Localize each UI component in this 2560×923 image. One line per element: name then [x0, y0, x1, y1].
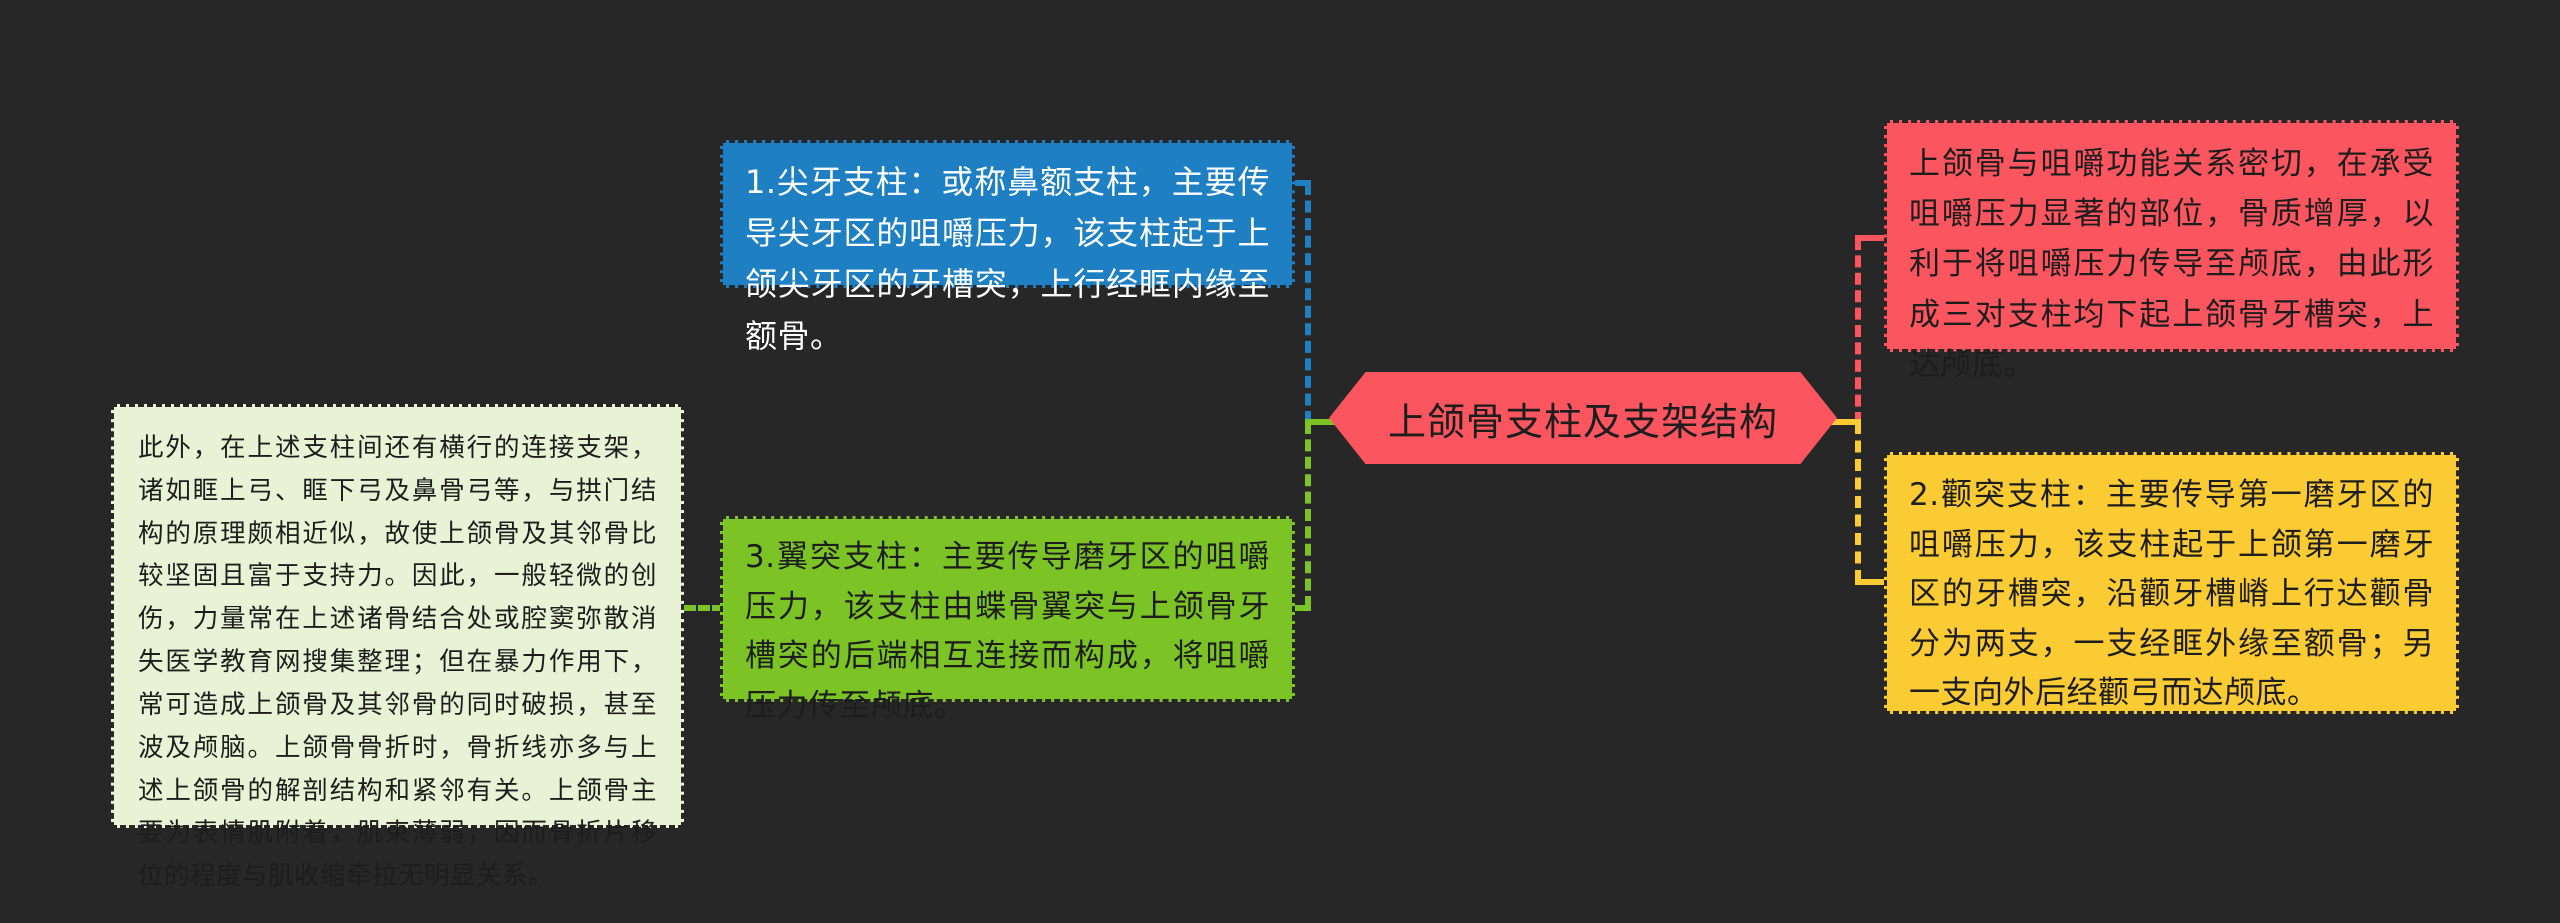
center-topic-label: 上颌骨支柱及支架结构: [1388, 391, 1778, 446]
node-intro[interactable]: 上颌骨与咀嚼功能关系密切，在承受咀嚼压力显著的部位，骨质增厚，以利于将咀嚼压力传…: [1884, 120, 2459, 352]
node-zygomatic-pillar[interactable]: 2.颧突支柱：主要传导第一磨牙区的咀嚼压力，该支柱起于上颌第一磨牙区的牙槽突，沿…: [1884, 452, 2459, 714]
node-center-topic[interactable]: 上颌骨支柱及支架结构: [1329, 372, 1837, 464]
connector-center-right-stub: [1831, 419, 1861, 425]
mindmap-canvas: 此外，在上述支柱间还有横行的连接支架，诸如眶上弓、眶下弓及鼻骨弓等，与拱门结构的…: [0, 0, 2560, 923]
connector-center-left-stub: [1305, 419, 1335, 425]
connector-center-to-pterygoid-pillar-vertical: [1305, 422, 1311, 608]
connector-pterygoid-pillar-to-note: [684, 605, 724, 611]
connector-center-to-zygomatic-pillar-vertical: [1855, 422, 1861, 582]
node-canine-pillar[interactable]: 1.尖牙支柱：或称鼻额支柱，主要传导尖牙区的咀嚼压力，该支柱起于上颌尖牙区的牙槽…: [720, 140, 1295, 288]
node-pterygoid-pillar[interactable]: 3.翼突支柱：主要传导磨牙区的咀嚼压力，该支柱由蝶骨翼突与上颌骨牙槽突的后端相互…: [720, 516, 1295, 702]
connector-center-to-canine-pillar-vertical: [1305, 183, 1311, 423]
connector-center-to-intro-vertical: [1855, 238, 1861, 424]
connector-center-to-intro-elbow: [1855, 235, 1887, 241]
connector-center-to-zygomatic-pillar-elbow: [1855, 579, 1887, 585]
node-note[interactable]: 此外，在上述支柱间还有横行的连接支架，诸如眶上弓、眶下弓及鼻骨弓等，与拱门结构的…: [111, 404, 684, 828]
